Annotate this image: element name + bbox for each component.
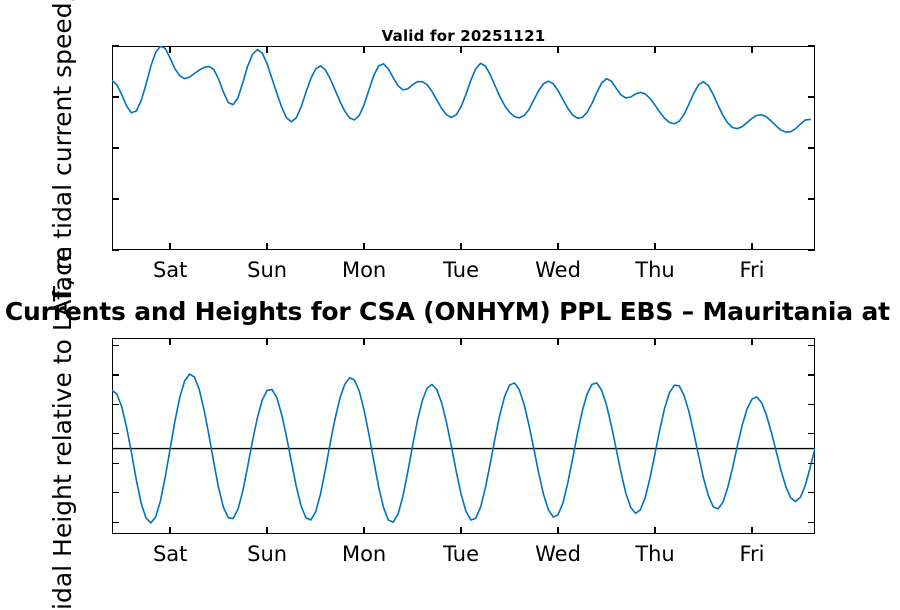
x-tick-mark	[169, 338, 170, 345]
y-tick-mark	[808, 345, 815, 346]
x-tick-mark	[654, 338, 655, 345]
y-tick-mark	[112, 345, 119, 346]
x-tick-mark	[169, 527, 170, 534]
x-tick-mark	[266, 527, 267, 534]
y-tick-mark	[808, 463, 815, 464]
y-tick-mark	[808, 433, 815, 434]
x-tick-mark	[363, 338, 364, 345]
y-tick-mark	[808, 522, 815, 523]
x-tick-mark	[557, 527, 558, 534]
x-tick-mark	[751, 527, 752, 534]
x-tick-mark	[460, 527, 461, 534]
bottom-tidal-height-curve	[0, 0, 900, 600]
x-tick-mark	[363, 527, 364, 534]
y-tick-mark	[112, 492, 119, 493]
y-tick-mark	[112, 463, 119, 464]
x-tick-mark	[460, 338, 461, 345]
x-tick-mark	[751, 338, 752, 345]
y-tick-mark	[808, 374, 815, 375]
y-tick-mark	[112, 404, 119, 405]
y-tick-mark	[112, 433, 119, 434]
y-tick-mark	[808, 492, 815, 493]
y-tick-mark	[112, 374, 119, 375]
x-tick-label: Fri	[692, 544, 812, 565]
x-tick-mark	[266, 338, 267, 345]
x-tick-mark	[557, 338, 558, 345]
x-tick-mark	[654, 527, 655, 534]
y-tick-mark	[808, 404, 815, 405]
y-tick-mark	[112, 522, 119, 523]
